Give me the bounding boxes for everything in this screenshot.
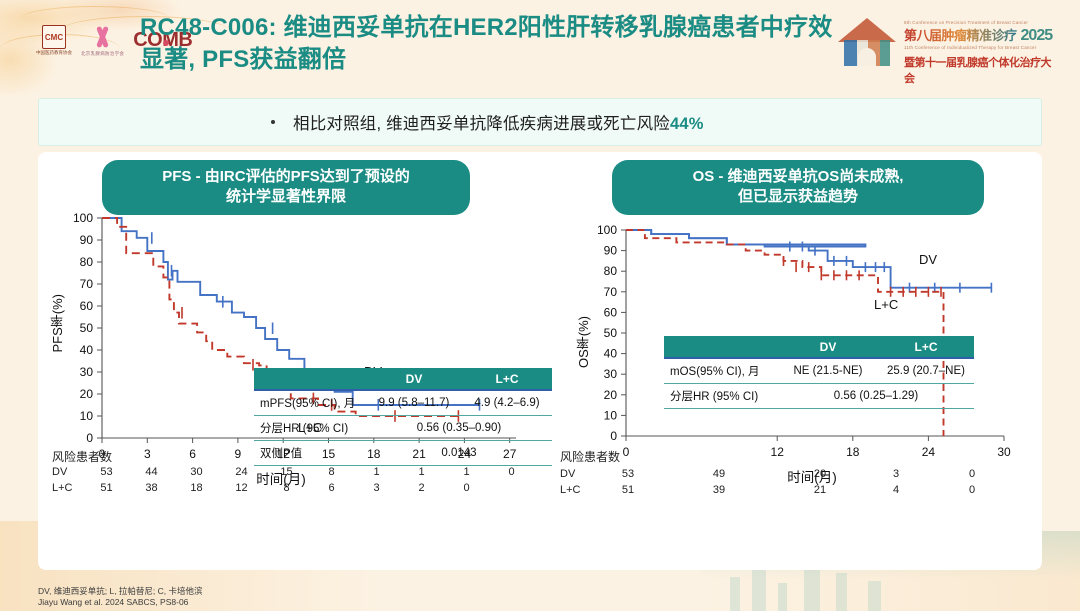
pfs-risk-row-0-v1: 44 xyxy=(129,466,174,478)
pfs-risk-row-1-v5: 6 xyxy=(309,482,354,494)
pfs-header-line-1: PFS - 由IRC评估的PFS达到了预设的 xyxy=(116,167,456,187)
svg-text:0: 0 xyxy=(86,431,93,445)
svg-text:0: 0 xyxy=(610,429,617,443)
os-risk-row-1-v2: 21 xyxy=(782,484,858,496)
svg-text:80: 80 xyxy=(604,264,618,278)
svg-text:6: 6 xyxy=(189,447,196,461)
svg-text:9: 9 xyxy=(235,447,242,461)
pfs-risk-row-0-v8: 1 xyxy=(444,466,489,478)
conference-chinese-line-2: 暨第十一届乳腺癌个体化治疗大会 xyxy=(904,54,1054,86)
svg-text:50: 50 xyxy=(80,321,94,335)
table-row: L+C 51 39 21 4 0 xyxy=(560,484,1010,496)
svg-text:60: 60 xyxy=(80,299,94,313)
pfs-risk-row-0-label: DV xyxy=(52,466,86,478)
table-row: L+C 51 38 18 12 8 6 3 2 0 xyxy=(52,482,489,494)
svg-text:60: 60 xyxy=(604,305,618,319)
svg-text:100: 100 xyxy=(73,211,93,225)
os-risk-row-1-v3: 4 xyxy=(858,484,934,496)
os-header-line-1: OS - 维迪西妥单抗OS尚未成熟, xyxy=(626,167,970,187)
svg-text:50: 50 xyxy=(604,326,618,340)
pfs-risk-row-1-label: L+C xyxy=(52,482,86,494)
cmc-seal-logo: CMC 中国医药教育协会 xyxy=(36,25,72,56)
svg-text:40: 40 xyxy=(604,347,618,361)
os-risk-row-0-v2: 20 xyxy=(782,468,858,480)
conference-logo: 8th Conference on Precision Treatment of… xyxy=(828,8,1058,80)
table-row: DV 53 44 30 24 15 8 1 1 1 0 xyxy=(52,466,534,478)
pfs-stat-col-lc: L+C xyxy=(462,368,552,390)
os-stat-col-dv: DV xyxy=(778,336,878,358)
os-header-line-2: 但已显示获益趋势 xyxy=(626,187,970,207)
summary-text-prefix: 相比对照组, 维迪西妥单抗降低疾病进展或死亡风险 xyxy=(293,115,670,133)
os-risk-row-1-v0: 51 xyxy=(600,484,656,496)
charts-card: PFS - 由IRC评估的PFS达到了预设的 统计学显著性界限 PFS率(%) xyxy=(38,152,1042,570)
pink-ribbon-logo: 北京乳腺病防治学会 xyxy=(81,24,124,57)
os-stat-header-row: DV L+C xyxy=(664,336,974,358)
summary-banner: 相比对照组, 维迪西妥单抗降低疾病进展或死亡风险44% xyxy=(38,98,1042,146)
os-row-1-value: 0.56 (0.25–1.29) xyxy=(778,383,974,408)
pfs-panel-header: PFS - 由IRC评估的PFS达到了预设的 统计学显著性界限 xyxy=(102,160,470,215)
os-panel-header: OS - 维迪西妥单抗OS尚未成熟, 但已显示获益趋势 xyxy=(612,160,984,215)
table-row: DV 53 49 20 3 0 xyxy=(560,468,1010,480)
os-risk-row-0-v0: 53 xyxy=(600,468,656,480)
svg-text:20: 20 xyxy=(80,387,94,401)
os-y-axis-label: OS率(%) xyxy=(574,316,593,368)
page-title: RC48-C006: 维迪西妥单抗在HER2阳性肝转移乳腺癌患者中疗效显著, P… xyxy=(140,12,840,76)
os-row-0-label: mOS(95% CI), 月 xyxy=(664,358,778,383)
svg-text:24: 24 xyxy=(922,445,936,459)
os-risk-row-0-v3: 3 xyxy=(858,468,934,480)
pfs-risk-row-0-v9: 0 xyxy=(489,466,534,478)
pfs-row-0-label: mPFS(95% CI), 月 xyxy=(254,390,366,415)
os-risk-row-0-v1: 49 xyxy=(656,468,782,480)
os-risk-row-1-label: L+C xyxy=(560,484,594,496)
pfs-stat-header-row: DV L+C xyxy=(254,368,552,390)
svg-text:20: 20 xyxy=(604,388,618,402)
cmc-seal-caption: 中国医药教育协会 xyxy=(36,50,72,56)
pfs-statistics-table: DV L+C mPFS(95% CI), 月 9.9 (5.8–11.7) 4.… xyxy=(254,368,552,466)
table-row: 分层HR (95% CI) 0.56 (0.25–1.29) xyxy=(664,383,974,408)
os-risk-row-1-v4: 0 xyxy=(934,484,1010,496)
svg-text:0: 0 xyxy=(623,445,630,459)
svg-text:70: 70 xyxy=(80,277,94,291)
footer-abbreviations: DV, 维迪西妥单抗; L, 拉帕替尼; C, 卡培他滨 xyxy=(38,586,203,597)
pfs-row-0-lc: 4.9 (4.2–6.9) xyxy=(462,390,552,415)
svg-text:30: 30 xyxy=(997,445,1011,459)
svg-text:3: 3 xyxy=(144,447,151,461)
pfs-risk-row-1-v3: 12 xyxy=(219,482,264,494)
conference-year: 2025 xyxy=(1021,27,1053,45)
pink-ribbon-icon xyxy=(92,24,114,50)
svg-text:12: 12 xyxy=(771,445,785,459)
summary-text: 相比对照组, 维迪西妥单抗降低疾病进展或死亡风险44% xyxy=(293,110,704,134)
svg-text:30: 30 xyxy=(80,365,94,379)
svg-text:30: 30 xyxy=(604,367,618,381)
os-statistics-table: DV L+C mOS(95% CI), 月 NE (21.5-NE) 25.9 … xyxy=(664,336,974,409)
pfs-risk-row-0-v4: 15 xyxy=(264,466,309,478)
table-row: 双侧P值 0.0143 xyxy=(254,440,552,465)
pfs-risk-row-1-v1: 38 xyxy=(129,482,174,494)
pfs-risk-row-1-v0: 51 xyxy=(84,482,129,494)
pfs-header-line-2: 统计学显著性界限 xyxy=(116,187,456,207)
os-risk-table-title: 风险患者数 xyxy=(560,448,620,465)
pfs-row-2-label: 双侧P值 xyxy=(254,440,366,465)
svg-text:90: 90 xyxy=(80,233,94,247)
os-risk-row-0-label: DV xyxy=(560,468,594,480)
table-row: mOS(95% CI), 月 NE (21.5-NE) 25.9 (20.7–N… xyxy=(664,358,974,383)
os-panel: OS - 维迪西妥单抗OS尚未成熟, 但已显示获益趋势 OS率(%) xyxy=(554,152,1042,570)
footer-citation: Jiayu Wang et al. 2024 SABCS, PS8-06 xyxy=(38,597,203,608)
ribbon-logo-caption: 北京乳腺病防治学会 xyxy=(81,51,124,57)
pfs-stat-col-dv: DV xyxy=(366,368,462,390)
svg-text:40: 40 xyxy=(80,343,94,357)
table-row: mPFS(95% CI), 月 9.9 (5.8–11.7) 4.9 (4.2–… xyxy=(254,390,552,415)
svg-text:10: 10 xyxy=(80,409,94,423)
bullet-point-icon xyxy=(271,120,275,124)
conference-badge-icon xyxy=(838,18,896,74)
svg-text:100: 100 xyxy=(597,224,617,237)
pfs-risk-row-0-v2: 30 xyxy=(174,466,219,478)
pfs-risk-row-0-v6: 1 xyxy=(354,466,399,478)
svg-text:90: 90 xyxy=(604,244,618,258)
conference-english-line-2: 11th Conference of Individualized Therap… xyxy=(904,45,1054,50)
cmc-seal-icon: CMC xyxy=(42,25,66,49)
os-row-0-dv: NE (21.5-NE) xyxy=(778,358,878,383)
slide-footer: DV, 维迪西妥单抗; L, 拉帕替尼; C, 卡培他滨 Jiayu Wang … xyxy=(38,586,203,609)
summary-highlight-value: 44% xyxy=(670,115,704,133)
table-row: 分层HR (95% CI) 0.56 (0.35–0.90) xyxy=(254,415,552,440)
svg-text:L+C: L+C xyxy=(874,297,898,312)
pfs-y-axis-label: PFS率(%) xyxy=(48,294,67,353)
os-risk-row-1-v1: 39 xyxy=(656,484,782,496)
pfs-row-0-dv: 9.9 (5.8–11.7) xyxy=(366,390,462,415)
slide-header: CMC 中国医药教育协会 北京乳腺病防治学会 COMB RC48-C006: 维… xyxy=(0,0,1080,92)
svg-text:10: 10 xyxy=(604,408,618,422)
pfs-row-1-value: 0.56 (0.35–0.90) xyxy=(366,415,552,440)
os-stat-col-lc: L+C xyxy=(878,336,974,358)
pfs-risk-row-1-v6: 3 xyxy=(354,482,399,494)
pfs-row-2-value: 0.0143 xyxy=(366,440,552,465)
svg-text:DV: DV xyxy=(919,252,937,267)
os-row-1-label: 分层HR (95% CI) xyxy=(664,383,778,408)
pfs-row-1-label: 分层HR (95% CI) xyxy=(254,415,366,440)
pfs-risk-row-1-v7: 2 xyxy=(399,482,444,494)
pfs-risk-row-0-v7: 1 xyxy=(399,466,444,478)
pfs-risk-row-0-v3: 24 xyxy=(219,466,264,478)
pfs-risk-row-0-v0: 53 xyxy=(84,466,129,478)
pfs-risk-table-title: 风险患者数 xyxy=(52,448,112,465)
pfs-risk-row-1-v2: 18 xyxy=(174,482,219,494)
svg-text:80: 80 xyxy=(80,255,94,269)
pfs-risk-row-0-v5: 8 xyxy=(309,466,354,478)
pfs-risk-row-1-v8: 0 xyxy=(444,482,489,494)
pfs-panel: PFS - 由IRC评估的PFS达到了预设的 统计学显著性界限 PFS率(%) xyxy=(38,152,554,570)
svg-text:18: 18 xyxy=(846,445,860,459)
conference-chinese-line-1: 第八届肿瘤精准诊疗 xyxy=(904,25,1017,44)
pfs-risk-row-1-v4: 8 xyxy=(264,482,309,494)
svg-text:70: 70 xyxy=(604,285,618,299)
os-row-0-lc: 25.9 (20.7–NE) xyxy=(878,358,974,383)
os-risk-row-0-v4: 0 xyxy=(934,468,1010,480)
